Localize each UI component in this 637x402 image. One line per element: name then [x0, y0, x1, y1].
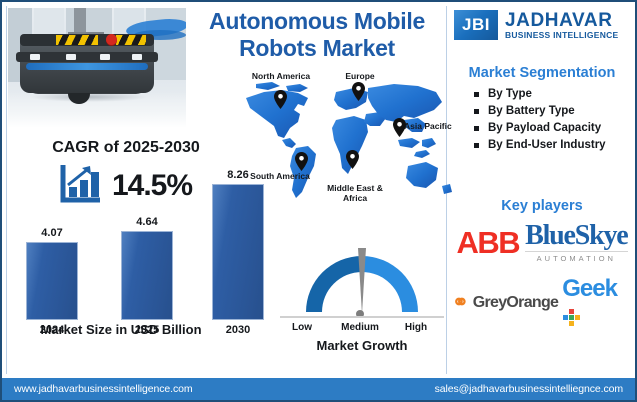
greyorange-logo: GreyOrange — [473, 294, 559, 312]
footer-bar: www.jadhavarbusinessintelligence.com sal… — [2, 378, 635, 400]
bar-2024 — [26, 242, 78, 320]
logo-mark-jbi: JBI — [454, 10, 498, 40]
market-size-bar-chart: 4.07 2024 4.64 2025 8.26 2030 Market Siz… — [10, 160, 260, 350]
infographic-inner: Autonomous Mobile Robots Market JBI JADH… — [2, 2, 635, 400]
page-title-line1: Autonomous Mobile — [192, 8, 442, 35]
geekplus-logo: Geek — [562, 275, 632, 331]
bar-value-label: 4.64 — [115, 216, 179, 228]
list-item: By Battery Type — [474, 105, 632, 117]
gauge-tick-low: Low — [282, 322, 322, 333]
gauge-title: Market Growth — [272, 338, 452, 353]
blueskye-logo-subtitle: AUTOMATION — [525, 251, 627, 263]
key-players-row-1: ABB BlueSkye AUTOMATION — [452, 222, 632, 263]
market-segmentation-panel: Market Segmentation By Type By Battery T… — [452, 65, 632, 156]
world-map: North America Europe Asia Pacific South … — [238, 74, 456, 234]
list-item: By Type — [474, 88, 632, 100]
company-logo[interactable]: JBI JADHAVAR BUSINESS INTELLIGENCE — [454, 10, 618, 40]
bar-group-2024: 4.07 2024 — [20, 227, 84, 320]
map-pin-europe[interactable] — [352, 82, 365, 101]
left-divider — [6, 6, 7, 374]
list-item: By Payload Capacity — [474, 122, 632, 134]
map-pin-north-america[interactable] — [274, 90, 287, 109]
segmentation-list: By Type By Battery Type By Payload Capac… — [452, 88, 632, 151]
key-players-logos: ABB BlueSkye AUTOMATION ⚭ GreyOrange Gee… — [452, 222, 632, 331]
gauge-tick-medium: Medium — [332, 322, 388, 333]
market-growth-gauge: Low Medium High Market Growth — [272, 242, 452, 364]
footer-website[interactable]: www.jadhavarbusinessintelligence.com — [14, 383, 193, 395]
cagr-title: CAGR of 2025-2030 — [20, 139, 232, 157]
list-item: By End-User Industry — [474, 139, 632, 151]
map-pin-middle-east-africa[interactable] — [346, 150, 359, 169]
abb-logo: ABB — [456, 225, 519, 261]
logo-wordmark: JADHAVAR BUSINESS INTELLIGENCE — [505, 11, 618, 40]
gauge-needle — [358, 248, 366, 314]
map-label-north-america: North America — [240, 72, 322, 82]
map-label-middle-east-africa: Middle East & Africa — [314, 184, 396, 204]
bar-group-2025: 4.64 2025 — [115, 216, 179, 320]
footer-email[interactable]: sales@jadhavarbusinessintelliegnce.com — [435, 383, 623, 395]
bar-value-label: 4.07 — [20, 227, 84, 239]
map-label-line2: Africa — [314, 194, 396, 204]
infographic-canvas: Autonomous Mobile Robots Market JBI JADH… — [0, 0, 637, 402]
map-label-asia-pacific: Asia Pacific — [404, 122, 462, 132]
key-players-panel: Key players ABB BlueSkye AUTOMATION ⚭ Gr… — [452, 198, 632, 331]
bar-2025 — [121, 231, 173, 320]
segmentation-heading: Market Segmentation — [452, 65, 632, 81]
key-players-heading: Key players — [452, 198, 632, 214]
gauge-baseline — [280, 316, 444, 318]
bar-chart-axis-title: Market Size in USD Billion — [10, 322, 232, 337]
map-label-europe: Europe — [332, 72, 388, 82]
map-pin-south-america[interactable] — [295, 152, 308, 171]
page-title-line2: Robots Market — [192, 35, 442, 62]
map-label-south-america: South America — [242, 172, 318, 182]
amr-robot-photo — [8, 8, 186, 128]
gauge-tick-high: High — [394, 322, 438, 333]
logo-tagline: BUSINESS INTELLIGENCE — [505, 31, 618, 40]
geekplus-plus-icon — [563, 309, 580, 326]
emergency-stop-button-icon — [106, 34, 117, 45]
blueskye-logo: BlueSkye AUTOMATION — [525, 222, 627, 263]
logo-company-name: JADHAVAR — [505, 11, 618, 31]
greyorange-mark-icon: ⚭ — [452, 293, 469, 313]
key-players-row-2: ⚭ GreyOrange Geek — [452, 275, 632, 331]
page-title: Autonomous Mobile Robots Market — [192, 8, 442, 62]
